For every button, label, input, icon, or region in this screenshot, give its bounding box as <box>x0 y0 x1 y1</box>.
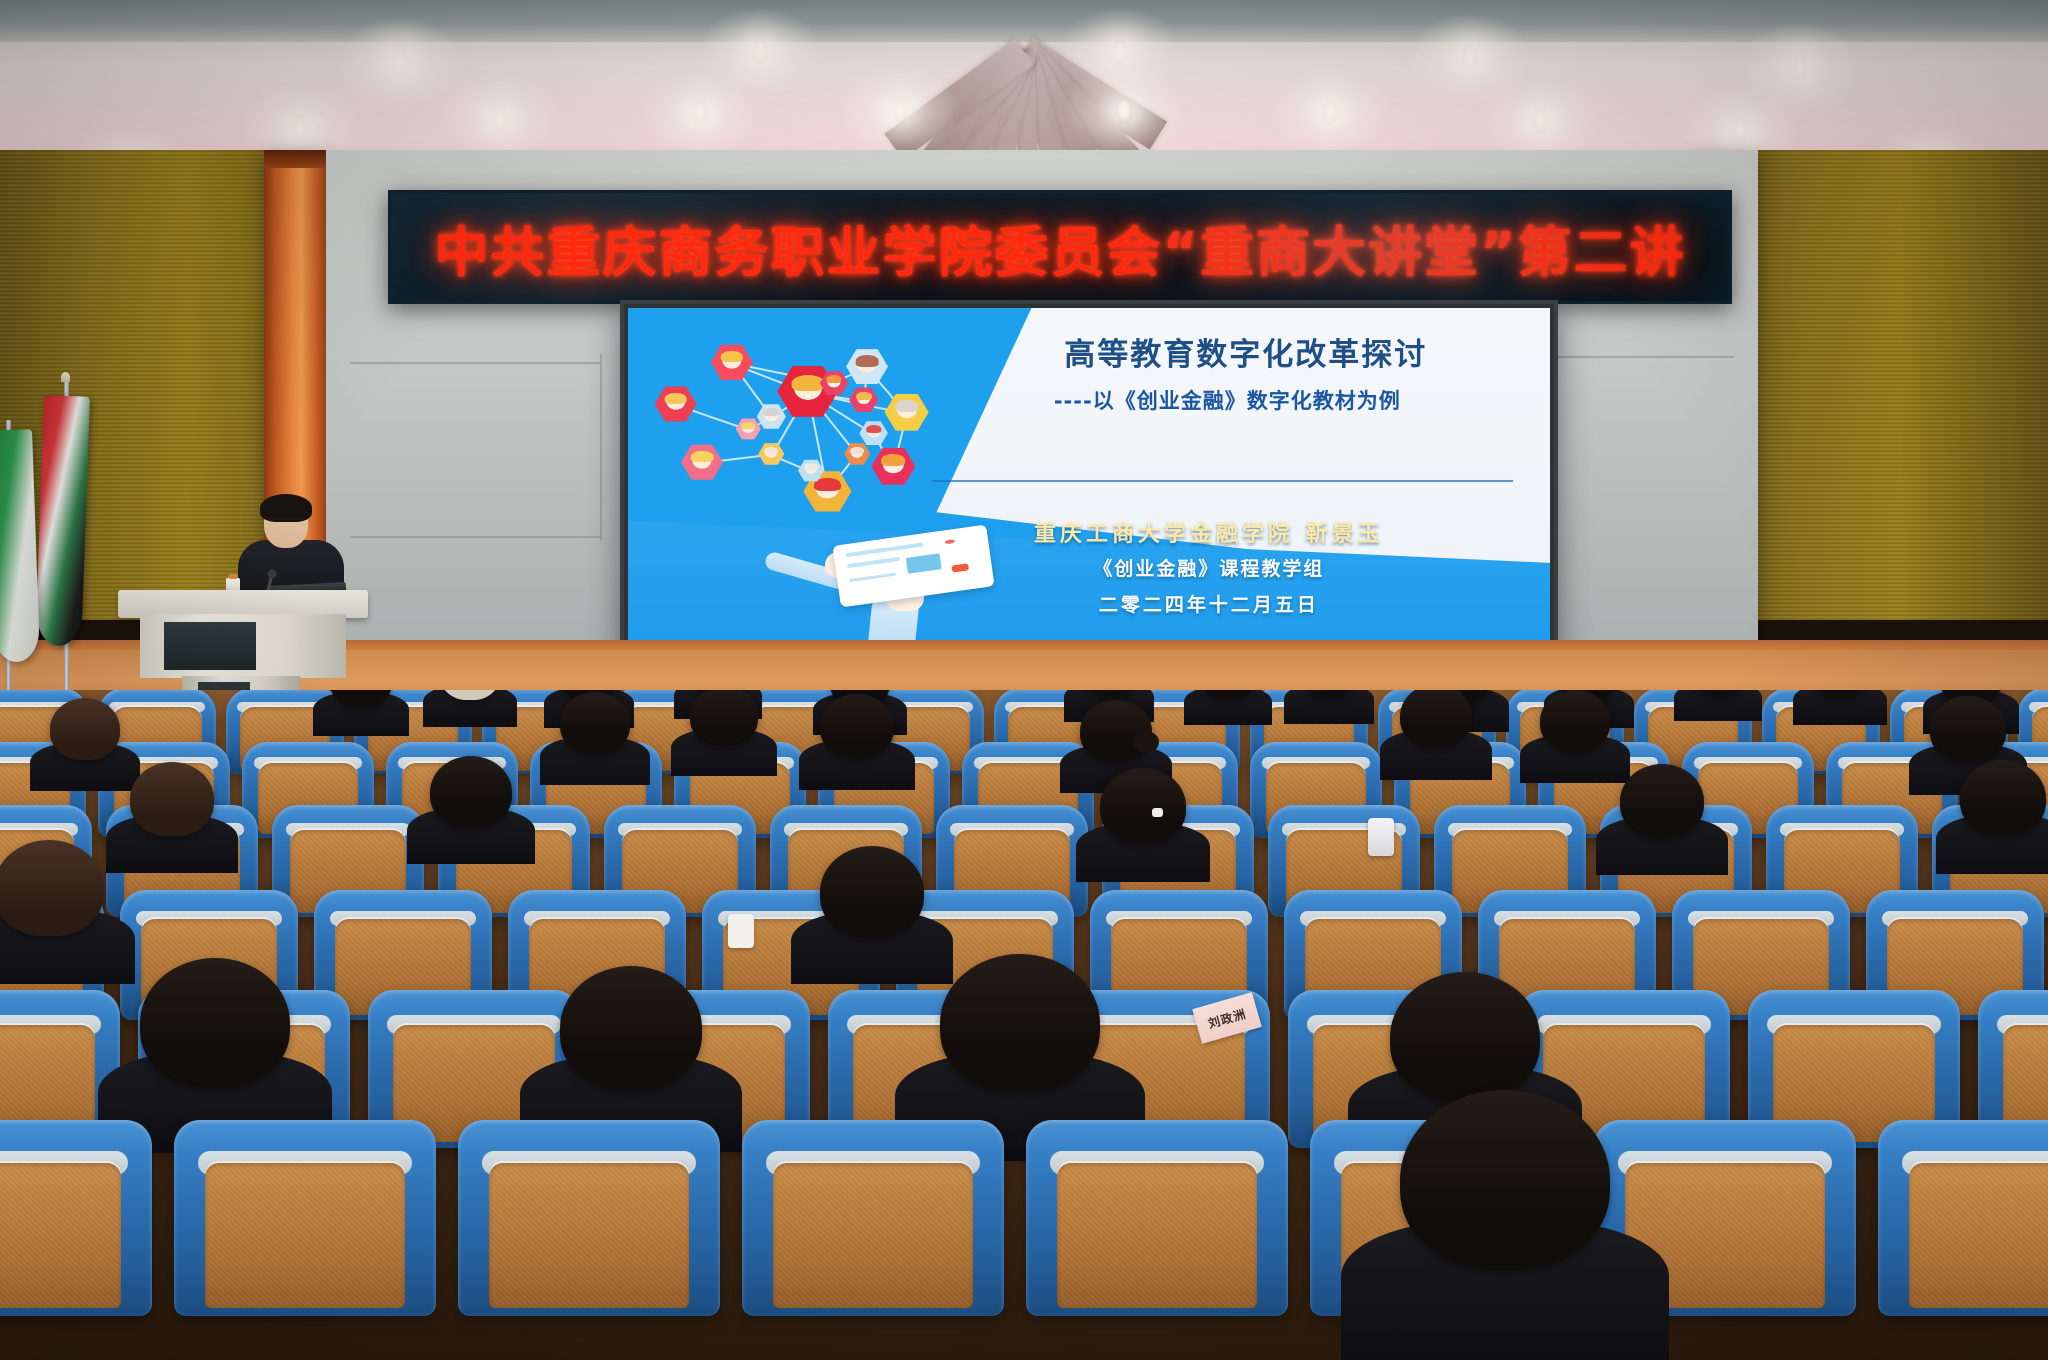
avatar-hexagon-icon <box>736 418 761 441</box>
audience-member-head <box>140 958 290 1088</box>
ceiling-downlight <box>1732 117 1748 143</box>
avatar-hexagon-icon <box>711 343 753 381</box>
seat-wood-panel <box>489 1163 688 1308</box>
audience-member-head <box>0 840 104 936</box>
slide-date: 二零二四年十二月五日 <box>905 590 1514 617</box>
avatar-hair <box>850 447 864 454</box>
auditorium-seating-area: 刘政洲 <box>0 690 2048 1360</box>
avatar-hair <box>691 451 714 462</box>
seat-wood-panel <box>205 1163 404 1308</box>
audience-member-head <box>1960 760 2046 836</box>
audience-member-head <box>560 692 630 754</box>
avatar-hair <box>826 375 841 383</box>
wall-right-olive <box>1718 150 2048 620</box>
audience-member-head <box>1930 696 2006 762</box>
ceiling-downlight <box>1462 45 1478 71</box>
audience-member-head <box>820 846 924 938</box>
auditorium-seat[interactable] <box>742 1120 1004 1316</box>
people-network-icon <box>646 326 978 544</box>
avatar-hair <box>882 454 906 466</box>
seat-wood-panel <box>1909 1163 2048 1308</box>
projection-screen: 高等教育数字化改革探讨 ----以《创业金融》数字化教材为例 重庆工商大学金融学… <box>620 300 1558 668</box>
auditorium-seat[interactable] <box>458 1120 720 1316</box>
slide-divider-line <box>932 480 1513 482</box>
seat-wood-panel <box>0 1163 121 1308</box>
ceiling-downlight <box>1112 39 1128 65</box>
avatar-hexagon-icon <box>681 443 723 481</box>
ceiling-downlight <box>292 115 308 141</box>
wall-seam <box>600 354 602 540</box>
audience-member-head <box>940 954 1100 1092</box>
avatar-hexagon-icon <box>871 446 915 486</box>
audience-member-head <box>1390 972 1540 1102</box>
led-banner-text: 中共重庆商务职业学院委员会“重商大讲堂”第二讲 <box>435 208 1686 287</box>
avatar-hexagon-icon <box>849 387 878 414</box>
auditorium-seat[interactable] <box>174 1120 436 1316</box>
audience-member-head <box>1400 690 1472 748</box>
ceiling-top-strip <box>0 0 2048 42</box>
wall-panel-line <box>350 362 600 364</box>
ceiling-downlight <box>1792 55 1808 81</box>
tablet-row <box>850 572 897 582</box>
avatar-hair <box>741 422 755 429</box>
auditorium-seat[interactable] <box>0 1120 152 1316</box>
avatar-hexagon-icon <box>757 403 786 430</box>
audience-member-head <box>690 690 758 746</box>
audience-member-head <box>1100 768 1186 844</box>
avatar-hair <box>804 463 818 470</box>
seat-wood-panel <box>1057 1163 1256 1308</box>
auditorium-seat[interactable] <box>1878 1120 2048 1316</box>
avatar-hexagon-icon <box>859 420 888 446</box>
audience-member-head <box>560 966 702 1090</box>
audience-member-head <box>820 694 894 758</box>
ceiling-downlight <box>1116 97 1132 123</box>
avatar-hair <box>791 375 824 392</box>
slide-subtitle: ----以《创业金融》数字化教材为例 <box>905 385 1550 415</box>
audience-member-head <box>130 762 214 836</box>
audience-member-head <box>50 698 120 760</box>
avatar-hair <box>664 393 687 404</box>
avatar-hair <box>856 392 872 400</box>
audience-member-head <box>430 756 512 828</box>
wall-panel-line <box>350 536 600 538</box>
slide-presenter: 重庆工商大学金融学院 靳景玉 <box>905 516 1514 548</box>
auditorium-seat[interactable] <box>1026 1120 1288 1316</box>
audience-member-head <box>1620 764 1704 838</box>
avatar-hair <box>764 447 778 454</box>
ceiling-downlight <box>1322 99 1338 125</box>
hair-clip <box>1152 808 1163 817</box>
phone-icon <box>1368 818 1394 856</box>
slide-canvas: 高等教育数字化改革探讨 ----以《创业金融》数字化教材为例 重庆工商大学金融学… <box>628 308 1550 660</box>
slide-course-group: 《创业金融》课程教学组 <box>905 554 1514 581</box>
avatar-hair <box>814 478 840 491</box>
flag-finial <box>61 372 70 382</box>
avatar-hair <box>866 425 881 433</box>
ceiling-downlight <box>892 97 908 123</box>
ceiling-downlight <box>1532 107 1548 133</box>
cup-on-armrest <box>728 914 754 948</box>
avatar-hair <box>856 355 879 366</box>
tablet-row <box>848 556 901 568</box>
podium-front-panel <box>164 622 256 670</box>
audience-member-head <box>1540 690 1610 752</box>
audience-member-head <box>1400 1090 1610 1270</box>
slide-title: 高等教育数字化改革探讨 <box>960 329 1532 374</box>
avatar-hair <box>720 351 743 362</box>
ceiling-downlight <box>752 39 768 65</box>
led-banner: 中共重庆商务职业学院委员会“重商大讲堂”第二讲 <box>388 190 1732 304</box>
lecture-hall-photo: 中共重庆商务职业学院委员会“重商大讲堂”第二讲 <box>0 0 2048 1360</box>
avatar-hexagon-icon <box>758 442 784 466</box>
avatar-hair <box>763 408 779 416</box>
flag-red-white-black-green <box>35 395 90 646</box>
avatar-hexagon-icon <box>655 385 697 423</box>
ceiling-downlight <box>692 99 708 125</box>
avatar-hexagon-icon <box>846 348 888 386</box>
glasses-icon <box>268 518 304 528</box>
ceiling-downlight <box>392 49 408 75</box>
ceiling-downlight <box>492 105 508 131</box>
seat-wood-panel <box>773 1163 972 1308</box>
